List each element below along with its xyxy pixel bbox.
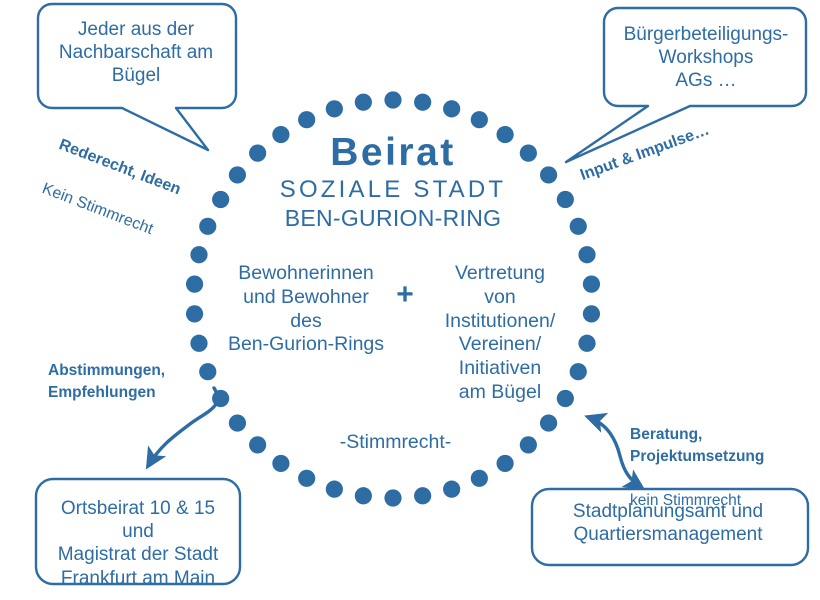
annotation-bottom-right: Beratung, Projektumsetzung kein Stimmrec… xyxy=(630,402,820,534)
ring-dot xyxy=(249,436,266,453)
ring-dot xyxy=(520,436,537,453)
ring-dot xyxy=(326,100,343,117)
ring-dot xyxy=(471,111,488,128)
ring-dot xyxy=(471,470,488,487)
ring-dot xyxy=(355,487,372,504)
annotation-bottom-right-regular: kein Stimmrecht xyxy=(630,490,820,512)
ring-dot xyxy=(186,276,203,293)
annotation-bottom-right-bold: Beratung, Projektumsetzung xyxy=(630,424,820,468)
ring-dot xyxy=(443,100,460,117)
voting-right-note: -Stimmrecht- xyxy=(308,431,483,455)
ring-dot xyxy=(355,94,372,111)
ring-dot xyxy=(497,455,514,472)
callout-top-left-label: Jeder aus der Nachbarschaft am Bügel xyxy=(40,18,232,88)
page-subtitle-primary: SOZIALE STADT xyxy=(203,175,583,204)
ring-dot xyxy=(272,455,289,472)
ring-dot xyxy=(540,414,557,431)
ring-dot xyxy=(326,481,343,498)
diagram-canvas: Jeder aus der Nachbarschaft am Bügel Bür… xyxy=(0,0,820,600)
member-group-residents: Bewohnerinnen und Bewohner des Ben-Gurio… xyxy=(218,262,394,357)
ring-dot xyxy=(578,335,595,352)
ring-dot xyxy=(186,305,203,322)
page-subtitle-secondary: BEN-GURION-RING xyxy=(203,204,583,232)
ring-dot xyxy=(578,246,595,263)
box-bottom-left-label: Ortsbeirat 10 & 15 und Magistrat der Sta… xyxy=(38,497,238,590)
ring-dot xyxy=(414,487,431,504)
ring-dot xyxy=(298,111,315,128)
ring-dot xyxy=(190,246,207,263)
plus-icon: + xyxy=(392,277,418,314)
ring-dot xyxy=(583,276,600,293)
ring-dot xyxy=(443,481,460,498)
annotation-bottom-left: Abstimmungen, Empfehlungen xyxy=(48,360,228,405)
ring-dot xyxy=(229,414,246,431)
ring-dot xyxy=(384,91,401,108)
page-title: Beirat xyxy=(203,129,583,177)
callout-top-right-label: Bürgerbeteiligungs- Workshops AGs … xyxy=(608,23,804,93)
ring-dot xyxy=(384,489,401,506)
member-group-institutions: Vertretung von Institutionen/ Vereinen/ … xyxy=(420,262,580,405)
ring-dot xyxy=(298,470,315,487)
ring-dot xyxy=(583,305,600,322)
ring-dot xyxy=(414,94,431,111)
ring-dot xyxy=(190,335,207,352)
